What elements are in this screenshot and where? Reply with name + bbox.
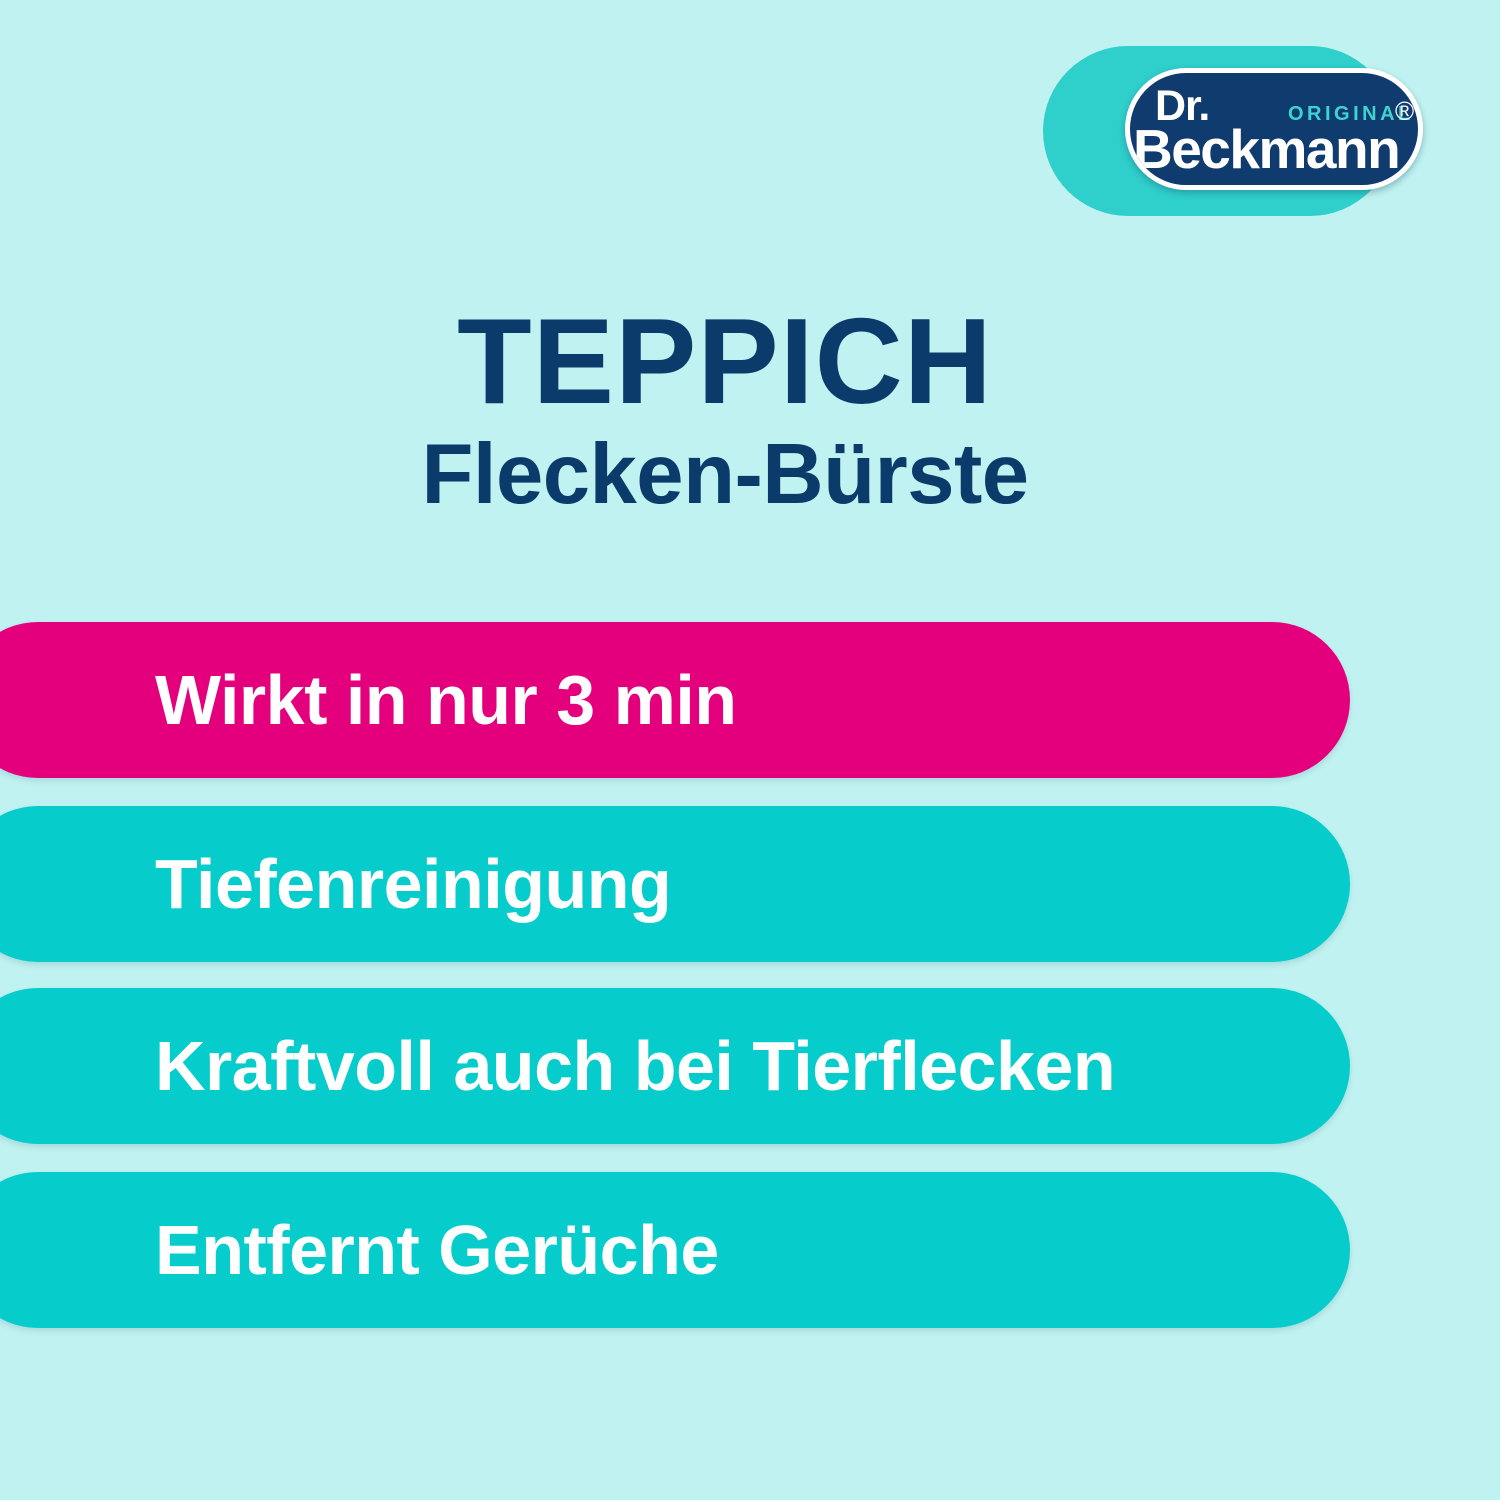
product-feature-poster: Dr. ORIGINAL ® Beckmann TEPPICH Flecken-… [0,0,1500,1500]
logo-badge: Dr. ORIGINAL ® Beckmann [1125,68,1423,190]
page-title: TEPPICH [0,300,1450,422]
page-subtitle: Flecken-Bürste [0,432,1450,517]
brand-logo: Dr. ORIGINAL ® Beckmann [1043,46,1423,226]
feature-bar: Entfernt Gerüche [0,1172,1350,1328]
feature-bar: Tiefenreinigung [0,806,1350,962]
feature-bar-highlight: Wirkt in nur 3 min [0,622,1350,778]
feature-label: Tiefenreinigung [155,849,671,919]
logo-text-beckmann: Beckmann [1133,122,1399,177]
feature-label: Entfernt Gerüche [155,1215,719,1285]
feature-bar: Kraftvoll auch bei Tierflecken [0,988,1350,1144]
feature-label: Kraftvoll auch bei Tierflecken [155,1031,1115,1101]
feature-label: Wirkt in nur 3 min [155,665,737,735]
